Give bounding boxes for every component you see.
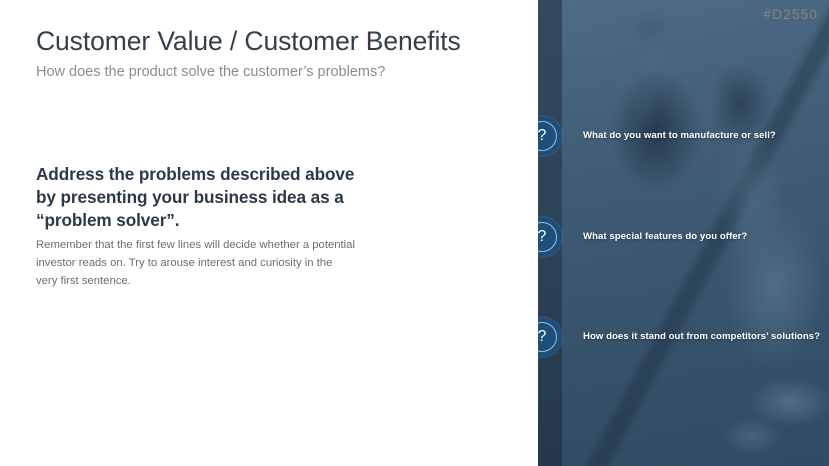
question-label-3: How does it stand out from competitors’ … (583, 330, 820, 343)
headline-text: Address the problems described above by … (36, 163, 356, 232)
badge-glyph: ? (538, 116, 562, 156)
body-paragraph: Remember that the first few lines will d… (36, 237, 356, 291)
question-label-2: What special features do you offer? (583, 230, 747, 243)
question-mark-icon: ? (538, 116, 562, 156)
question-mark-icon: ? (538, 317, 562, 357)
question-mark-icon: ? (538, 217, 562, 257)
question-item-2: ? What special features do you offer? (538, 217, 822, 257)
question-item-1: ? What do you want to manufacture or sel… (538, 116, 822, 156)
badge-glyph: ? (538, 317, 562, 357)
image-panel: #D2550 ? What do you want to manufacture… (538, 0, 829, 466)
presentation-slide: Customer Value / Customer Benefits How d… (0, 0, 829, 466)
watermark-text: #D2550 (764, 7, 819, 22)
page-subtitle: How does the product solve the customer’… (36, 63, 506, 82)
content-pane: Customer Value / Customer Benefits How d… (0, 0, 538, 466)
page-title: Customer Value / Customer Benefits (36, 26, 516, 57)
question-item-3: ? How does it stand out from competitors… (538, 317, 822, 357)
badge-glyph: ? (538, 217, 562, 257)
question-label-1: What do you want to manufacture or sell? (583, 129, 776, 142)
